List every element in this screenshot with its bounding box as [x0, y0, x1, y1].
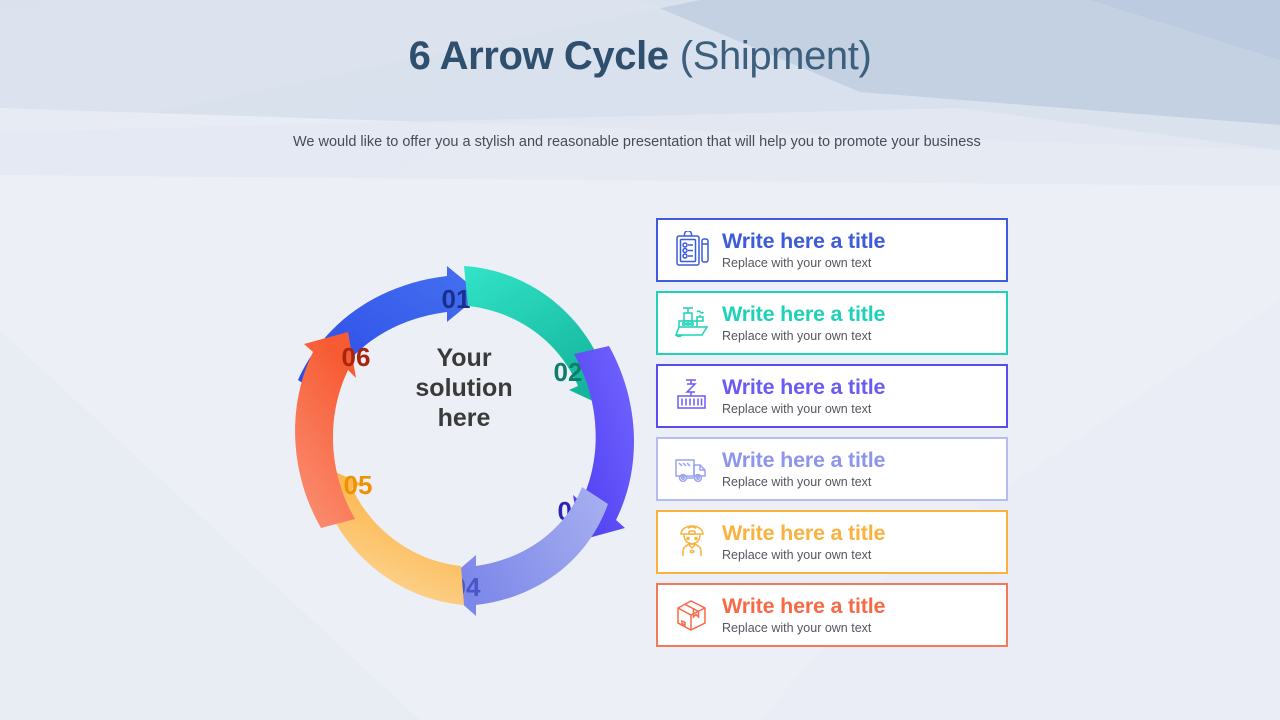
- card-step-1-title: Write here a title: [722, 229, 1006, 254]
- cycle-arrow-04: 04: [441, 487, 608, 616]
- card-step-2-subtitle: Replace with your own text: [722, 328, 1006, 345]
- card-step-2[interactable]: Write here a title Replace with your own…: [656, 291, 1008, 355]
- card-step-5-subtitle: Replace with your own text: [722, 547, 1006, 564]
- card-step-1[interactable]: Write here a title Replace with your own…: [656, 218, 1008, 282]
- card-step-3[interactable]: Write here a title Replace with your own…: [656, 364, 1008, 428]
- card-step-5-text: Write here a title Replace with your own…: [720, 521, 1006, 564]
- card-step-3-title: Write here a title: [722, 375, 1006, 400]
- card-step-2-title: Write here a title: [722, 302, 1006, 327]
- page-subtitle: We would like to offer you a stylish and…: [293, 132, 1053, 152]
- cycle-center-line-2: solution: [378, 373, 550, 403]
- page-title-bold: 6 Arrow Cycle: [409, 34, 669, 78]
- card-step-3-text: Write here a title Replace with your own…: [720, 375, 1006, 418]
- shipment-step-card-list: Write here a title Replace with your own…: [656, 218, 1008, 656]
- card-step-1-subtitle: Replace with your own text: [722, 255, 1006, 272]
- delivery-truck-icon: [664, 447, 720, 491]
- card-step-6-title: Write here a title: [722, 594, 1006, 619]
- card-step-6-subtitle: Replace with your own text: [722, 620, 1006, 637]
- card-step-6-text: Write here a title Replace with your own…: [720, 594, 1006, 637]
- card-step-4-text: Write here a title Replace with your own…: [720, 448, 1006, 491]
- card-step-2-text: Write here a title Replace with your own…: [720, 302, 1006, 345]
- cycle-arrow-01-label: 01: [442, 284, 471, 314]
- cycle-center-text: Your solution here: [378, 343, 550, 433]
- card-step-3-subtitle: Replace with your own text: [722, 401, 1006, 418]
- arrow-cycle-svg: 01 02 03 04 05: [278, 248, 650, 638]
- card-step-4-subtitle: Replace with your own text: [722, 474, 1006, 491]
- clipboard-checklist-icon: [664, 228, 720, 272]
- page-title: 6 Arrow Cycle (Shipment): [0, 26, 1280, 86]
- arrow-cycle-diagram: 01 02 03 04 05: [278, 248, 650, 638]
- delivery-person-icon: [664, 520, 720, 564]
- cycle-center-line-3: here: [378, 403, 550, 433]
- package-box-icon: [664, 593, 720, 637]
- card-step-6[interactable]: Write here a title Replace with your own…: [656, 583, 1008, 647]
- cargo-ship-icon: [664, 301, 720, 345]
- card-step-1-text: Write here a title Replace with your own…: [720, 229, 1006, 272]
- page-title-light: (Shipment): [680, 34, 872, 78]
- container-crane-icon: [664, 374, 720, 418]
- card-step-4[interactable]: Write here a title Replace with your own…: [656, 437, 1008, 501]
- cycle-arrow-05-label: 05: [344, 470, 373, 500]
- cycle-arrow-06-label: 06: [342, 342, 371, 372]
- card-step-5-title: Write here a title: [722, 521, 1006, 546]
- cycle-center-line-1: Your: [378, 343, 550, 373]
- card-step-4-title: Write here a title: [722, 448, 1006, 473]
- card-step-5[interactable]: Write here a title Replace with your own…: [656, 510, 1008, 574]
